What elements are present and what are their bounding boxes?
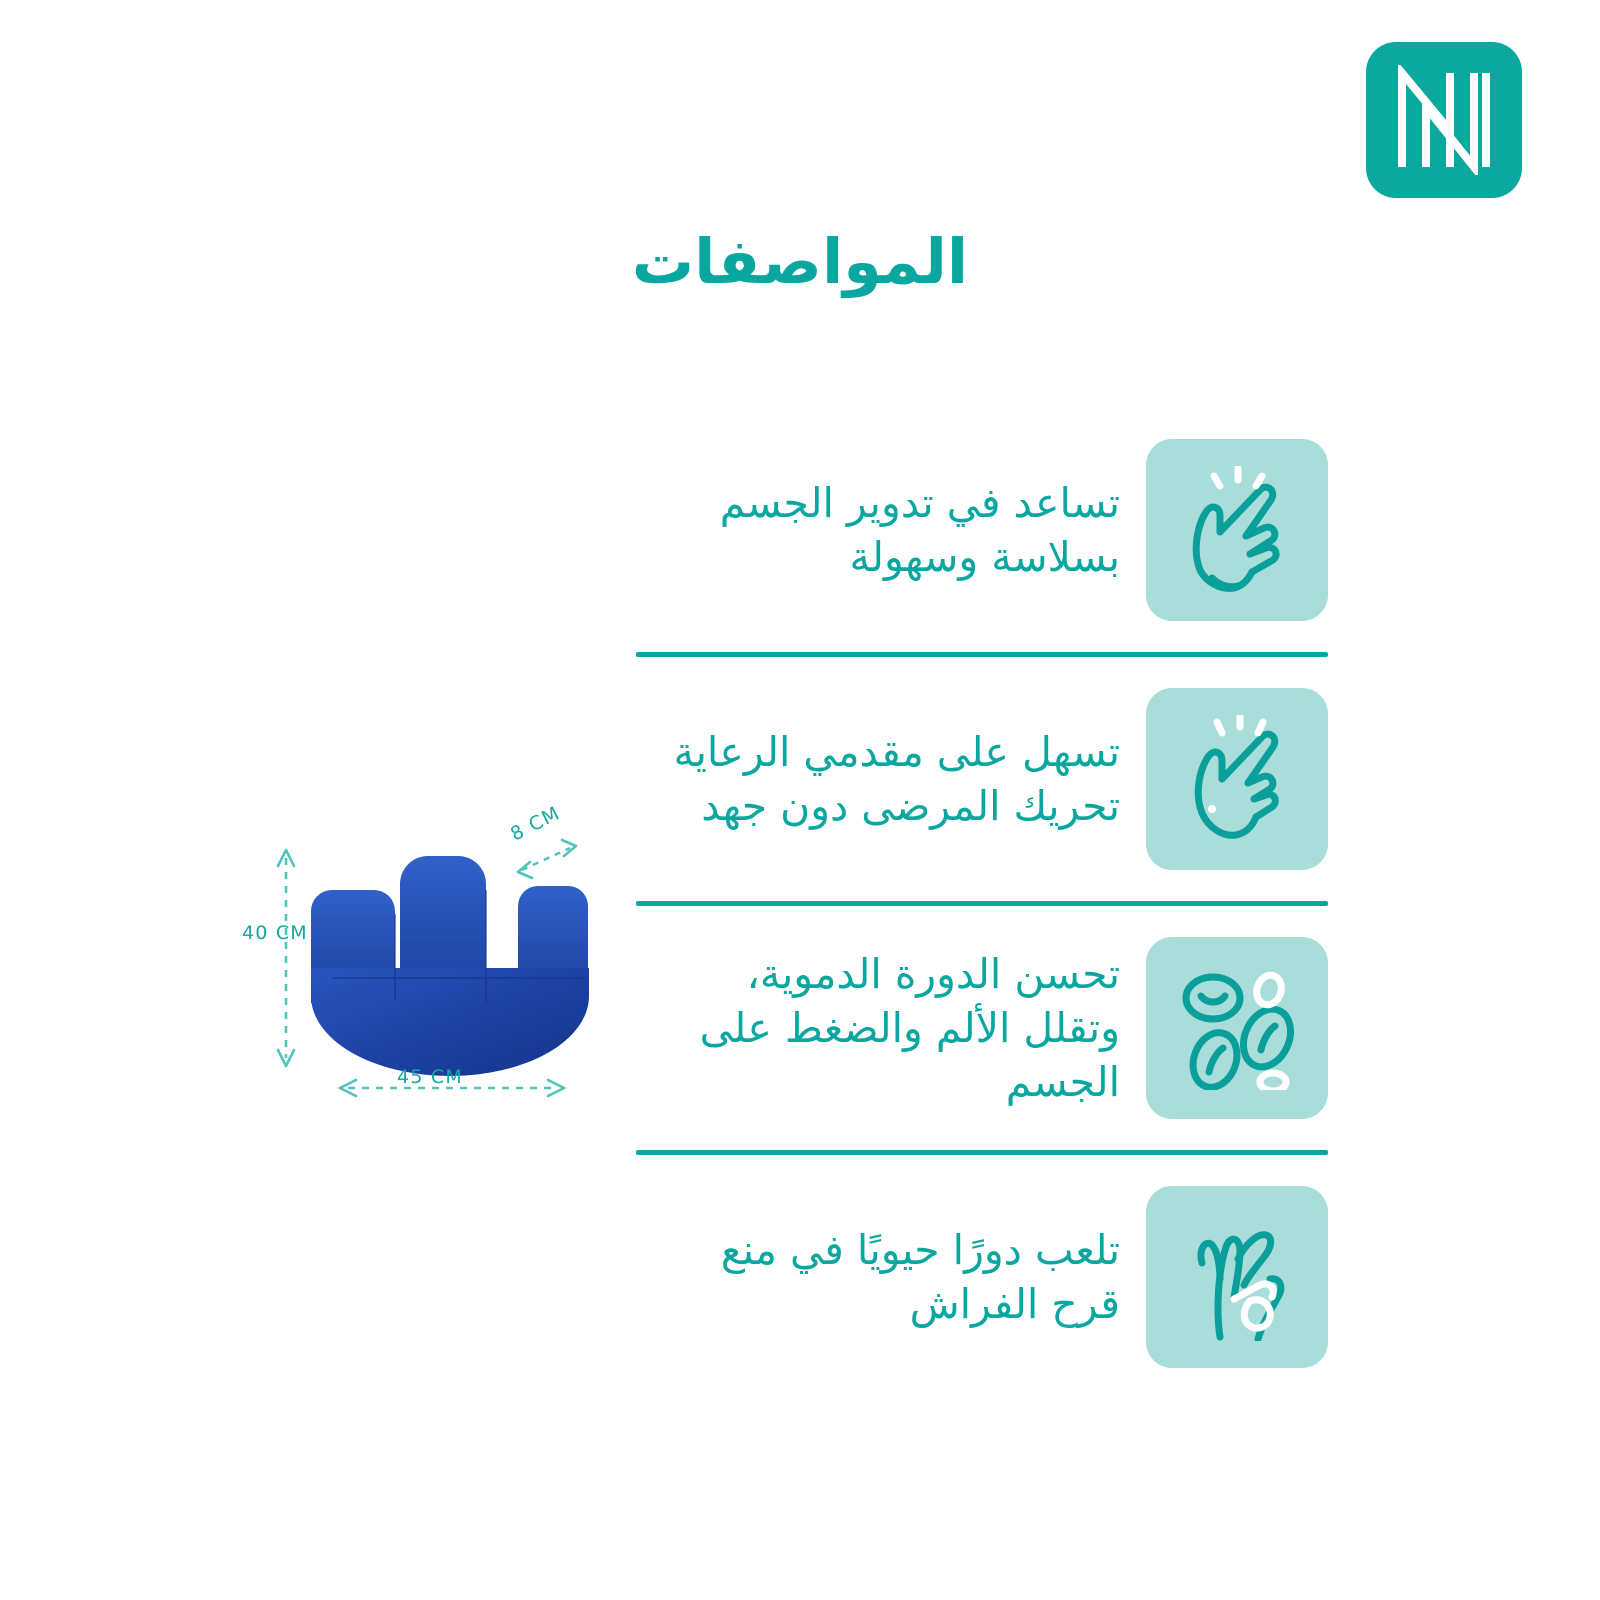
blood-cells-icon-tile <box>1146 937 1328 1119</box>
brand-logo <box>1366 42 1522 198</box>
blood-cells-icon <box>1175 966 1299 1090</box>
ok-hand-gesture-icon <box>1178 1213 1296 1341</box>
height-dimension-arrow <box>278 850 294 1066</box>
snapping-fingers-icon <box>1176 466 1298 594</box>
feature-row: تحسن الدورة الدموية، وتقلل الألم والضغط … <box>636 930 1328 1126</box>
page-title: المواصفات <box>0 228 1600 296</box>
snapping-fingers-icon-tile <box>1146 439 1328 621</box>
row-divider <box>636 652 1328 657</box>
hand-dot <box>1208 805 1216 813</box>
features-list: تساعد في تدوير الجسم بسلاسة وسهولة <box>636 432 1328 1375</box>
height-dimension-label: 40 CM <box>242 922 308 944</box>
pointing-hand-icon <box>1176 715 1298 843</box>
nn-monogram-icon <box>1394 65 1494 175</box>
feature-text: تحسن الدورة الدموية، وتقلل الألم والضغط … <box>636 947 1120 1109</box>
product-illustration: 40 CM 45 CM 8 CM <box>232 818 632 1118</box>
feature-text: تلعب دورًا حيويًا في منع قرح الفراش <box>636 1223 1120 1331</box>
feature-row: تساعد في تدوير الجسم بسلاسة وسهولة <box>636 432 1328 628</box>
cushion-base <box>311 968 589 1076</box>
row-divider <box>636 1150 1328 1155</box>
width-dimension-label: 45 CM <box>397 1066 463 1088</box>
ok-hand-gesture-icon-tile <box>1146 1186 1328 1368</box>
thickness-dimension-arrow <box>518 840 576 878</box>
pointing-hand-icon-tile <box>1146 688 1328 870</box>
specifications-page: المواصفات <box>0 0 1600 1600</box>
feature-row: تلعب دورًا حيويًا في منع قرح الفراش <box>636 1179 1328 1375</box>
feature-row: تسهل على مقدمي الرعاية تحريك المرضى دون … <box>636 681 1328 877</box>
feature-text: تساعد في تدوير الجسم بسلاسة وسهولة <box>636 476 1120 584</box>
feature-text: تسهل على مقدمي الرعاية تحريك المرضى دون … <box>636 725 1120 833</box>
row-divider <box>636 901 1328 906</box>
